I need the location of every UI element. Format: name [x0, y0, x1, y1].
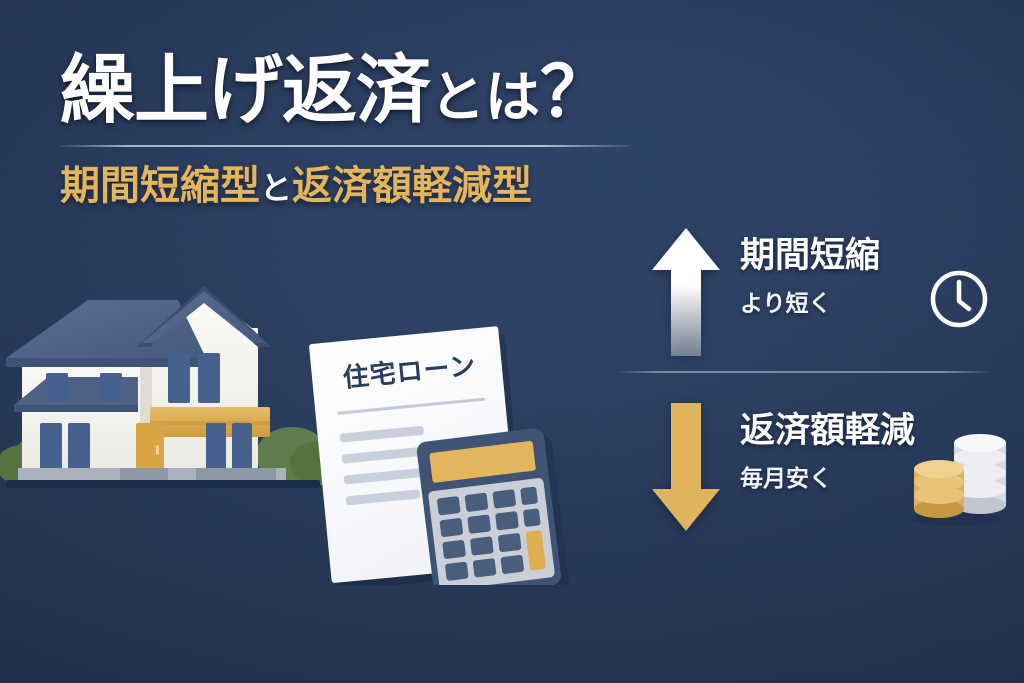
page-title-tail: とは [430, 66, 540, 128]
headline-block: 繰上げ返済とは？ 期間短縮型と返済額軽減型 [60, 52, 640, 211]
subtitle-type-reduction: 返済額軽減型 [292, 164, 532, 208]
page-title: 繰上げ返済とは？ [60, 52, 640, 129]
benefit-subtitle: より短く [740, 284, 880, 318]
house-icon [6, 286, 286, 482]
arrow-up-icon [650, 226, 722, 358]
benefit-title: 返済額軽減 [740, 413, 915, 450]
calculator-icon [416, 426, 570, 585]
benefit-text-period-shortening: 期間短縮 より短く [740, 238, 880, 318]
coin-stack-icon [912, 417, 1008, 527]
benefit-text-payment-reduction: 返済額軽減 毎月安く [740, 413, 915, 493]
benefit-title: 期間短縮 [740, 238, 880, 275]
benefit-row-period-shortening: 期間短縮 より短く [612, 222, 1004, 362]
arrow-down-icon [650, 401, 722, 533]
clock-icon [928, 268, 990, 330]
benefit-row-payment-reduction: 返済額軽減 毎月安く [612, 397, 1004, 537]
page-title-main: 繰上げ返済 [60, 48, 430, 132]
infographic-canvas: 繰上げ返済とは？ 期間短縮型と返済額軽減型 [0, 0, 1024, 683]
subtitle-type-shortening: 期間短縮型 [60, 164, 260, 208]
panel-divider [620, 371, 988, 373]
page-title-question-mark: ？ [540, 53, 609, 131]
ground-line [6, 480, 320, 488]
title-divider [60, 145, 630, 147]
benefit-subtitle: 毎月安く [740, 459, 915, 493]
page-subtitle: 期間短縮型と返済額軽減型 [60, 153, 640, 211]
subtitle-conjunction: と [260, 170, 292, 206]
benefit-panel: 期間短縮 より短く 返済額軽減 毎月安く [612, 222, 1004, 552]
illustration-group [0, 255, 600, 585]
